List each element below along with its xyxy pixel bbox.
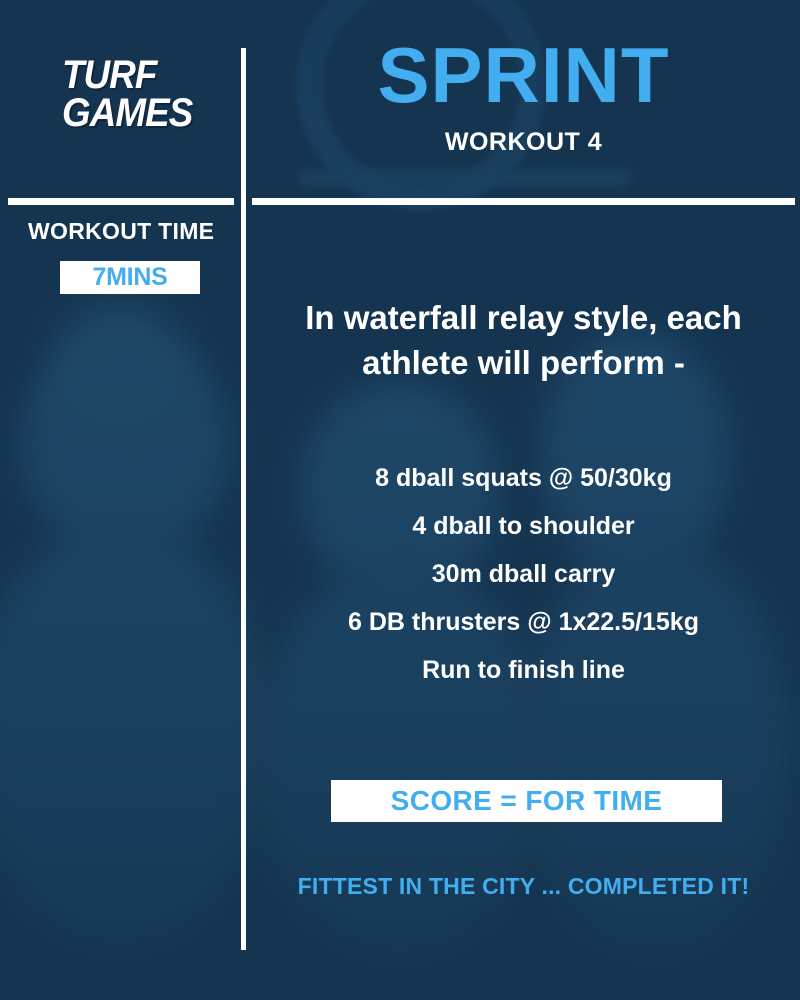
workout-number: WORKOUT 4 bbox=[252, 128, 795, 157]
vertical-divider bbox=[241, 48, 246, 950]
horizontal-divider-left bbox=[8, 198, 234, 205]
score-banner: SCORE = FOR TIME bbox=[331, 780, 722, 822]
score-text: SCORE = FOR TIME bbox=[391, 785, 663, 817]
logo-line-turf: TURF bbox=[62, 57, 209, 95]
turf-games-logo: TURF GAMES bbox=[62, 57, 222, 132]
logo-line-games: GAMES bbox=[62, 95, 209, 133]
workout-time-badge: 7MINS bbox=[60, 261, 200, 294]
page-title: SPRINT bbox=[252, 36, 795, 114]
list-item: Run to finish line bbox=[262, 658, 785, 683]
list-item: 4 dball to shoulder bbox=[262, 514, 785, 539]
list-item: 6 DB thrusters @ 1x22.5/15kg bbox=[262, 610, 785, 635]
list-item: 8 dball squats @ 50/30kg bbox=[262, 466, 785, 491]
workout-time-label: WORKOUT TIME bbox=[28, 218, 214, 245]
workout-poster: TURF GAMES SPRINT WORKOUT 4 WORKOUT TIME… bbox=[0, 0, 800, 1000]
horizontal-divider-right bbox=[252, 198, 795, 205]
workout-time-value: 7MINS bbox=[93, 263, 168, 292]
list-item: 30m dball carry bbox=[262, 562, 785, 587]
event-tagline: FITTEST IN THE CITY ... COMPLETED IT! bbox=[262, 873, 785, 900]
movement-list: 8 dball squats @ 50/30kg 4 dball to shou… bbox=[262, 466, 785, 706]
workout-intro: In waterfall relay style, each athlete w… bbox=[262, 296, 785, 385]
